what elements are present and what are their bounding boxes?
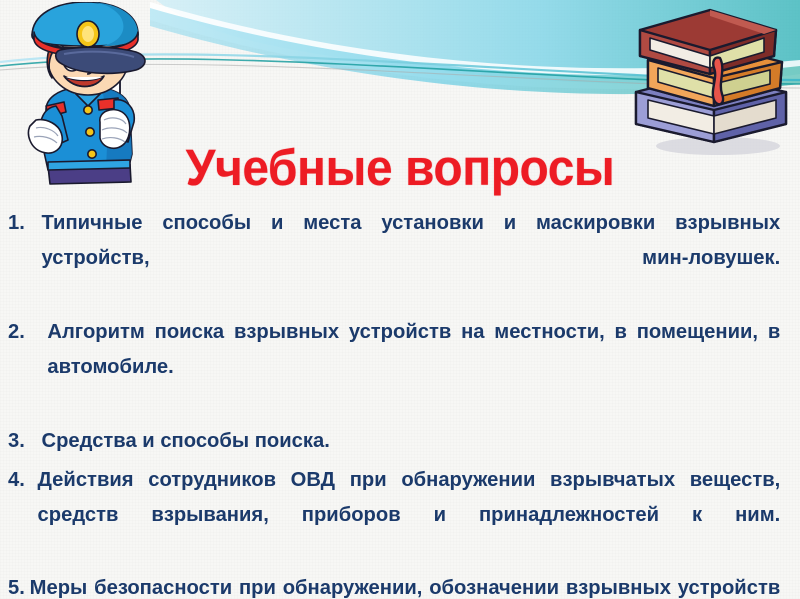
list-item: 4. Действия сотрудников ОВД при обнаруже…	[8, 462, 780, 567]
list-item: 3. Средства и способы поиска.	[8, 423, 780, 458]
list-item-text: Типичные способы и места установки и мас…	[8, 205, 780, 310]
questions-list: 1. Типичные способы и места установки и …	[8, 205, 792, 599]
list-item-number: 3.	[8, 423, 25, 458]
list-item: 5. Меры безопасности при обнаружении, об…	[8, 570, 780, 599]
list-item-text: Алгоритм поиска взрывных устройств на ме…	[8, 314, 780, 419]
bookmark-ribbon	[713, 58, 723, 105]
list-item-text: Действия сотрудников ОВД при обнаружении…	[8, 462, 780, 567]
list-item-number: 5.	[8, 570, 25, 599]
slide-title: Учебные вопросы	[24, 141, 776, 195]
list-item-number: 2.	[8, 314, 25, 349]
list-item-number: 4.	[8, 462, 25, 497]
slide-canvas: Учебные вопросы 1. Типичные способы и ме…	[0, 0, 800, 599]
books-illustration	[614, 0, 800, 158]
list-item-text: Средства и способы поиска.	[8, 423, 780, 458]
list-item: 1. Типичные способы и места установки и …	[8, 205, 780, 310]
list-item: 2. Алгоритм поиска взрывных устройств на…	[8, 314, 780, 419]
list-item-number: 1.	[8, 205, 25, 240]
list-item-text: Меры безопасности при обнаружении, обозн…	[8, 570, 780, 599]
